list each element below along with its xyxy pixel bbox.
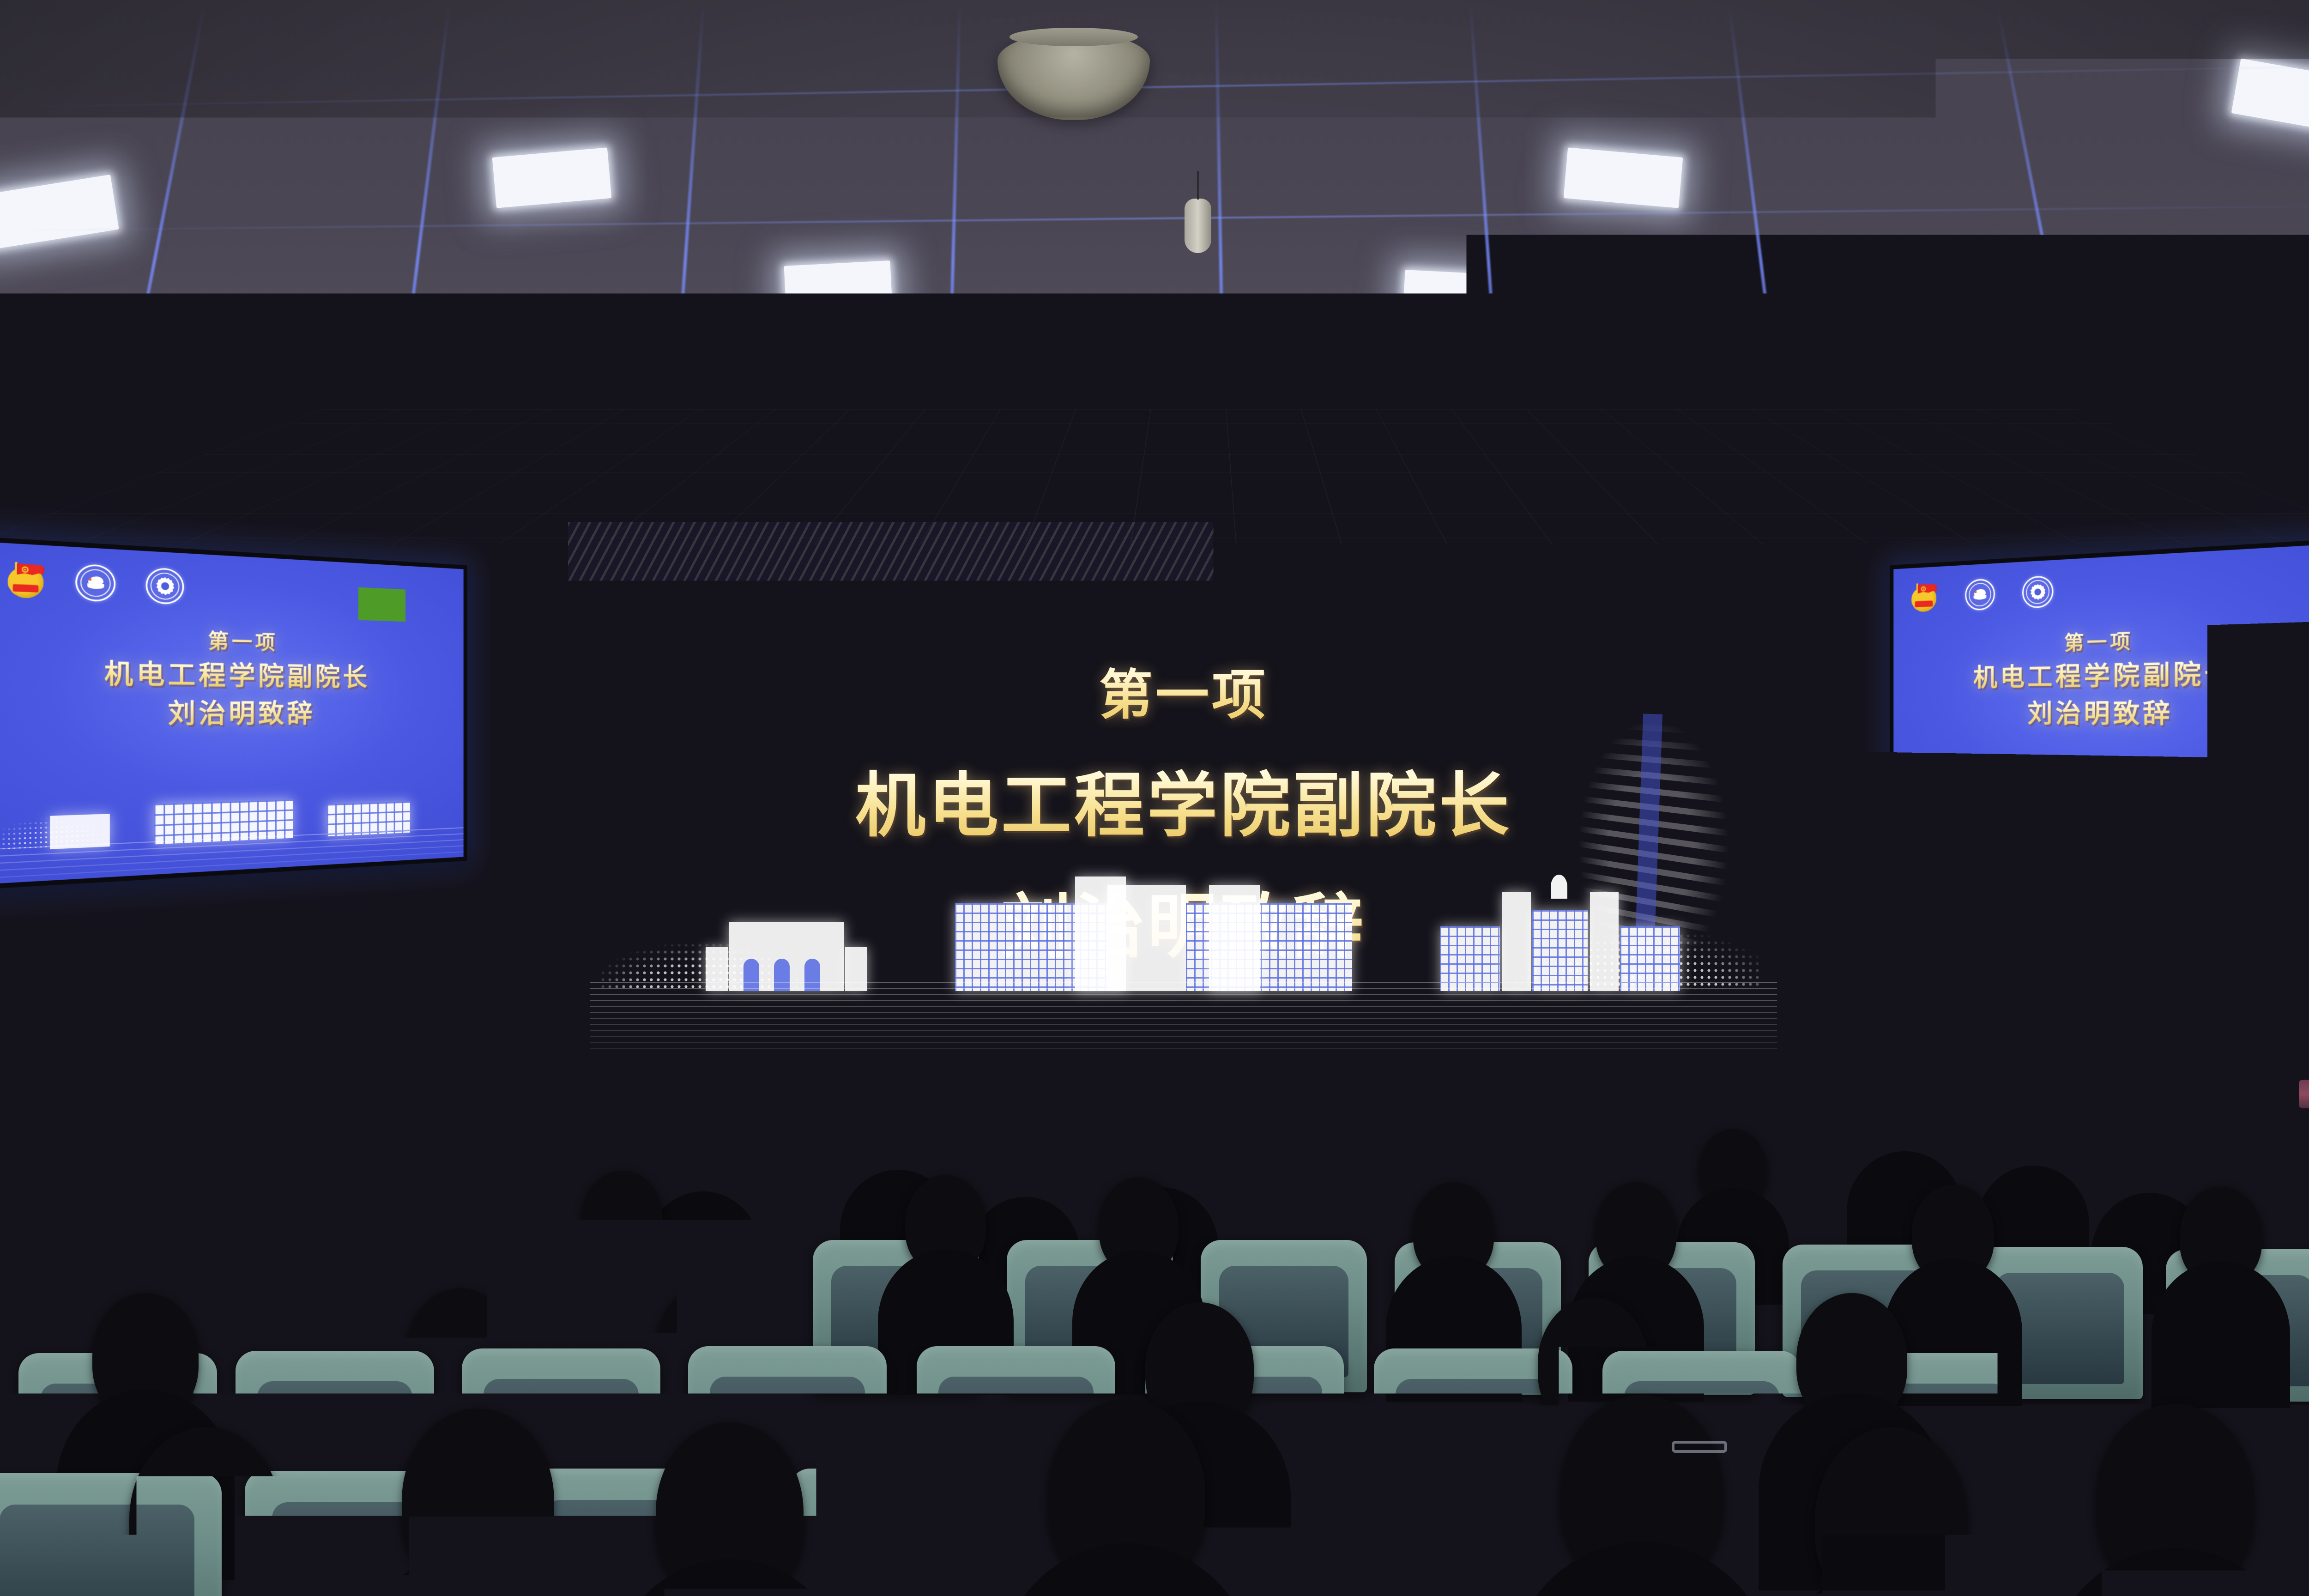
audience-head: [1796, 1293, 1907, 1425]
led-panel-light: [1564, 147, 1683, 208]
library-block-right: [1620, 926, 1680, 991]
audience-head: [2097, 1404, 2254, 1593]
right-slide-line-3: 刘治明致辞: [2027, 692, 2173, 730]
led-panel-light: [1403, 270, 1511, 321]
library-block-left: [1440, 926, 1500, 991]
audience-head: [1325, 1085, 1395, 1166]
audience-head: [1596, 1182, 1676, 1279]
exit-arrow-left-icon: [991, 423, 1026, 438]
ceiling: [0, 0, 2309, 545]
led-panel-light: [492, 147, 612, 208]
communist-youth-league-emblem-icon: 中国共青团: [612, 592, 664, 644]
audience-eyeglasses: [1672, 1441, 1727, 1453]
audience-head: [670, 1134, 737, 1210]
lectern-top: [422, 912, 613, 948]
left-slide-line-3: 刘治明致辞: [168, 692, 315, 731]
audience-head: [2115, 1131, 2184, 1212]
audience-head: [406, 1168, 487, 1265]
presenter-shirt: [499, 828, 543, 921]
left-slide-logo-row: [7, 560, 207, 628]
audience-head: [406, 1288, 515, 1418]
lectern-neck: [439, 947, 595, 983]
audience-head: [2027, 1312, 2136, 1441]
left-slide-content: 第一项 机电工程学院副院长 刘治明致辞: [0, 542, 464, 884]
name-card-name: 李 浩: [1235, 1181, 1290, 1206]
cylinder-pendant-light: [2170, 409, 2199, 478]
cylinder-pendant-light: [9, 402, 38, 471]
library-tower-left: [1502, 892, 1531, 991]
communist-youth-league-emblem-icon: [7, 560, 45, 599]
right-side-display[interactable]: 第一项 机电工程学院副院长 刘治明致辞: [1890, 538, 2309, 888]
auditorium-seat[interactable]: [790, 1469, 1039, 1596]
left-slide-line-1: 第一项: [208, 624, 278, 655]
presenter-lapel-pin: [538, 855, 544, 861]
exit-label-en: EXIT: [1061, 436, 1100, 449]
audience-head: [1048, 1399, 1205, 1589]
left-slide-text-block: 第一项 机电工程学院副院长 刘治明致辞: [0, 617, 464, 731]
smoke-detector: [1185, 199, 1211, 253]
academic-roof-cap: [1209, 885, 1260, 991]
water-bottle: [1823, 1144, 1840, 1195]
cylinder-pendant-light: [1986, 432, 2014, 501]
right-slide-text-block: 第一项 机电工程学院副院长 刘治明致辞: [1893, 618, 2309, 731]
name-card-org: 青岛理工大学: [1778, 1168, 1810, 1173]
emergency-exit-sign: 安全出口 EXIT: [984, 406, 1107, 454]
auditorium-seat[interactable]: [1335, 1471, 1584, 1596]
name-card-org: 青岛理工大学: [1247, 1174, 1279, 1179]
presenter-eyeglasses: [497, 786, 544, 797]
audience-head: [656, 1422, 804, 1596]
university-seal-bird-icon: [1965, 578, 1995, 611]
right-slide-line-2: 机电工程学院副院长: [1973, 652, 2236, 694]
name-card-name: 张 琳: [1770, 1175, 1818, 1196]
audience-head: [1482, 1081, 1552, 1161]
name-card: 青岛理工大学 张 琳: [1759, 1166, 1829, 1202]
audience-head: [2180, 1187, 2262, 1285]
audience-head: [905, 1175, 986, 1272]
right-slide-line-1: 第一项: [2064, 625, 2134, 656]
camera-lens-icon: [2299, 1080, 2309, 1108]
running-man-icon: [1030, 416, 1056, 445]
exit-label-cn: 安全出口: [1061, 411, 1100, 437]
right-slide-logo-row: [1911, 575, 2066, 635]
slide-logo-row: 中国共青团: [612, 592, 810, 644]
presenter-at-podium: [446, 757, 598, 924]
camera-operator: [2306, 956, 2309, 1307]
auditorium-scene: 安全出口 EXIT: [0, 0, 2309, 1596]
slide-line-1: 第一项: [1099, 652, 1268, 729]
main-led-video-wall[interactable]: 中国共青团 第一项 机电工程学院副院长 刘治明致辞: [586, 571, 1782, 1056]
university-seal-bird-icon: [75, 563, 115, 602]
library-block-mid: [1532, 910, 1588, 991]
front-desk-monitor[interactable]: [52, 1197, 121, 1229]
audience-head: [1099, 1178, 1179, 1274]
lectern-base: [448, 1095, 587, 1124]
university-seal-bird-icon: [685, 592, 737, 644]
audience-head: [864, 1108, 933, 1189]
audience-head: [1912, 1185, 1994, 1282]
audience-head: [1413, 1182, 1494, 1279]
green-color-chip: [358, 587, 405, 622]
audience-head: [1870, 1090, 1940, 1171]
academic-roof-cap: [1075, 877, 1126, 991]
right-slide-content: 第一项 机电工程学院副院长 刘治明致辞: [1893, 544, 2309, 882]
audience-head: [993, 1141, 1058, 1215]
audience-head: [402, 1409, 554, 1593]
audience-head: [582, 1171, 663, 1268]
audience-head: [1561, 1395, 1723, 1589]
audience-head: [656, 1284, 767, 1415]
slide-line-2: 机电工程学院副院长: [855, 749, 1512, 850]
cyl-band-text: 中国共青团: [620, 624, 652, 635]
engineering-college-gear-seal-icon: [2022, 575, 2054, 609]
cylinder-pendant-light: [194, 427, 223, 496]
water-reflection-lines: [590, 982, 1777, 1051]
audience-head: [1607, 1099, 1672, 1177]
communist-youth-league-emblem-icon: [1911, 581, 1940, 613]
exit-sign-text: 安全出口 EXIT: [1061, 411, 1100, 450]
left-slide-line-2: 机电工程学院副院长: [104, 652, 370, 693]
left-side-display[interactable]: 第一项 机电工程学院副院长 刘治明致辞: [0, 536, 467, 889]
name-card: 青岛理工大学 李 浩: [1224, 1172, 1301, 1212]
hvac-cassette-vent: [1270, 418, 1529, 506]
main-slide-content: 中国共青团 第一项 机电工程学院副院长 刘治明致辞: [590, 575, 1777, 1051]
campus-skyline-illustration: [590, 899, 1777, 1051]
stage-step: [199, 1150, 568, 1205]
audience-baseball-cap: [139, 1194, 229, 1270]
wooden-lectern: [446, 912, 589, 1129]
audience-head: [92, 1293, 199, 1420]
audience-head: [1699, 1129, 1766, 1207]
engineering-college-gear-seal-icon: [758, 592, 810, 644]
led-panel-light: [784, 260, 893, 312]
lectern-column: [463, 981, 572, 1097]
wall-power-outlet[interactable]: [52, 937, 73, 965]
library-dome: [1551, 875, 1567, 899]
audience-head: [2000, 1106, 2067, 1185]
engineering-college-gear-seal-icon: [146, 567, 184, 605]
library-tower-right: [1590, 892, 1619, 991]
